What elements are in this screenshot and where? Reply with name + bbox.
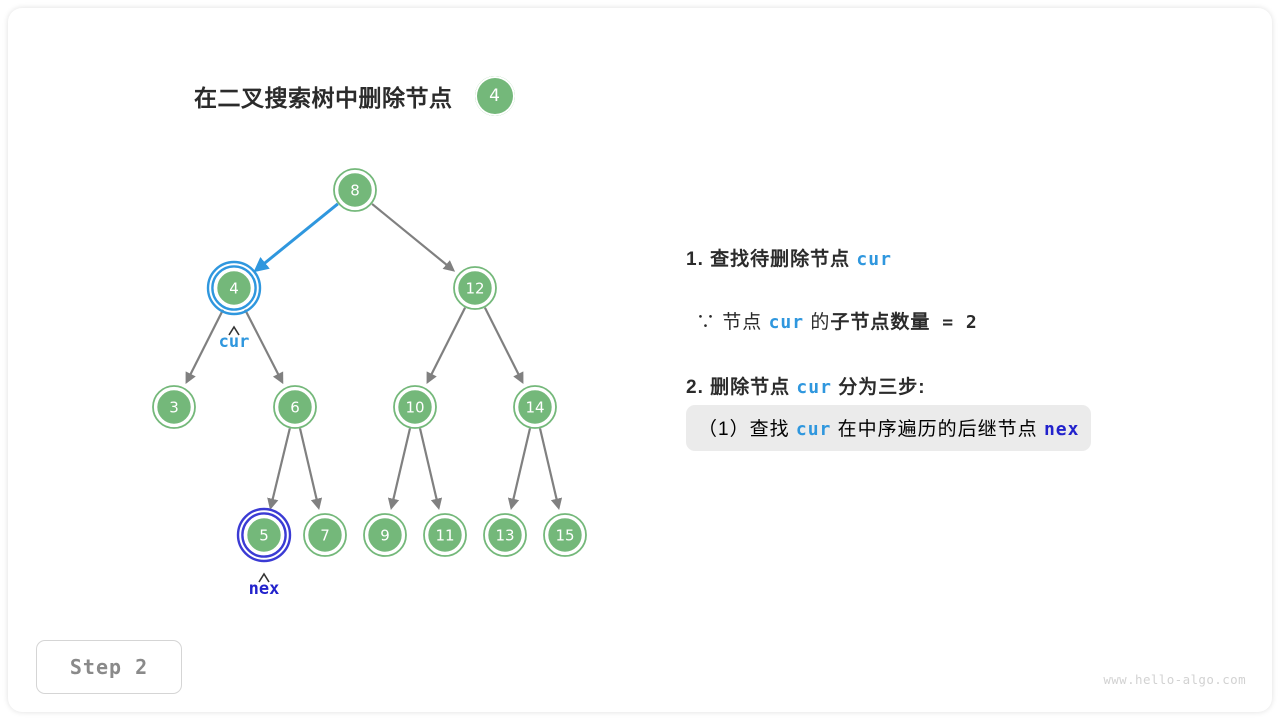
pointer-label-cur: cur	[219, 332, 250, 352]
pointer-marker-nex: nex	[249, 574, 280, 599]
pointer-marker-cur: cur	[219, 327, 250, 352]
tree-node-label: 5	[259, 527, 269, 545]
tree-edge-12-10	[428, 308, 465, 382]
tree-node-9[interactable]: 9	[364, 514, 406, 556]
tree-edge-8-4	[256, 204, 338, 271]
tree-edge-4-6	[244, 308, 282, 383]
explanation-reason: ∵ 节点 cur 的子节点数量 = 2	[696, 307, 1226, 334]
reason-bold-segment: 子节点数量	[830, 312, 930, 333]
tree-node-14[interactable]: 14	[514, 386, 556, 428]
tree-node-12[interactable]: 12	[454, 267, 496, 309]
tree-node-label: 10	[405, 399, 424, 417]
explanation-panel: 1. 查找待删除节点 cur ∵ 节点 cur 的子节点数量 = 2 2. 删除…	[686, 244, 1226, 451]
tree-edge-14-13	[511, 428, 530, 507]
tree-node-11[interactable]: 11	[424, 514, 466, 556]
watermark: www.hello-algo.com	[1103, 672, 1246, 687]
tree-edge-10-11	[420, 428, 439, 507]
explanation-substep-1-highlight: （1）查找 cur 在中序遍历的后继节点 nex	[686, 405, 1091, 451]
tree-node-5[interactable]: 5	[238, 509, 290, 561]
step-1-text: 1. 查找待删除节点	[686, 249, 856, 270]
pointer-label-nex: nex	[249, 579, 280, 599]
reason-value: 2	[966, 312, 978, 333]
tree-edge-6-7	[300, 428, 319, 507]
substep-1-middle: 在中序遍历的后继节点	[831, 419, 1044, 440]
tree-node-label: 7	[320, 527, 330, 545]
substep-1-code-cur: cur	[796, 419, 832, 440]
reason-symbol: ∵	[696, 312, 722, 333]
tree-node-label: 13	[495, 527, 514, 545]
tree-node-4[interactable]: 4	[208, 262, 260, 314]
reason-part-2: 的	[804, 312, 830, 333]
explanation-step-1: 1. 查找待删除节点 cur	[686, 244, 1226, 271]
tree-node-label: 6	[290, 399, 300, 417]
step-2-prefix: 2. 删除节点	[686, 377, 796, 398]
tree-node-label: 15	[555, 527, 574, 545]
tree-node-label: 12	[465, 280, 484, 298]
tree-edge-12-14	[485, 308, 522, 382]
tree-node-3[interactable]: 3	[153, 386, 195, 428]
tree-edge-6-5	[271, 428, 290, 507]
step-1-code-cur: cur	[856, 249, 892, 270]
tree-edge-8-12	[372, 204, 453, 270]
tree-node-15[interactable]: 15	[544, 514, 586, 556]
tree-node-layer: 8412361014579111315	[153, 169, 586, 561]
tree-edge-layer	[187, 204, 559, 508]
tree-edge-14-15	[540, 428, 559, 507]
step-2-code-cur: cur	[796, 377, 832, 398]
tree-node-label: 14	[525, 399, 544, 417]
step-badge: Step 2	[36, 640, 182, 694]
tree-node-label: 4	[229, 280, 239, 298]
substep-1-code-nex: nex	[1044, 419, 1080, 440]
step-2-suffix: 分为三步:	[832, 377, 926, 398]
reason-equals: =	[930, 312, 966, 333]
tree-node-label: 8	[350, 182, 360, 200]
tree-node-label: 11	[435, 527, 454, 545]
reason-part-1: 节点	[722, 312, 768, 333]
step-badge-label: Step 2	[70, 655, 148, 679]
tree-node-10[interactable]: 10	[394, 386, 436, 428]
substep-1-prefix: （1）查找	[698, 419, 796, 440]
binary-search-tree-diagram: 8412361014579111315 curnex	[0, 0, 660, 660]
tree-edge-10-9	[391, 428, 410, 507]
reason-code-cur: cur	[769, 312, 805, 333]
tree-node-label: 3	[169, 399, 179, 417]
explanation-step-2: 2. 删除节点 cur 分为三步:	[686, 372, 1226, 399]
tree-node-8[interactable]: 8	[334, 169, 376, 211]
tree-node-13[interactable]: 13	[484, 514, 526, 556]
figure-canvas: 在二叉搜索树中删除节点 4 8412361014579111315 curnex…	[0, 0, 1280, 720]
tree-node-label: 9	[380, 527, 390, 545]
tree-node-6[interactable]: 6	[274, 386, 316, 428]
tree-node-7[interactable]: 7	[304, 514, 346, 556]
